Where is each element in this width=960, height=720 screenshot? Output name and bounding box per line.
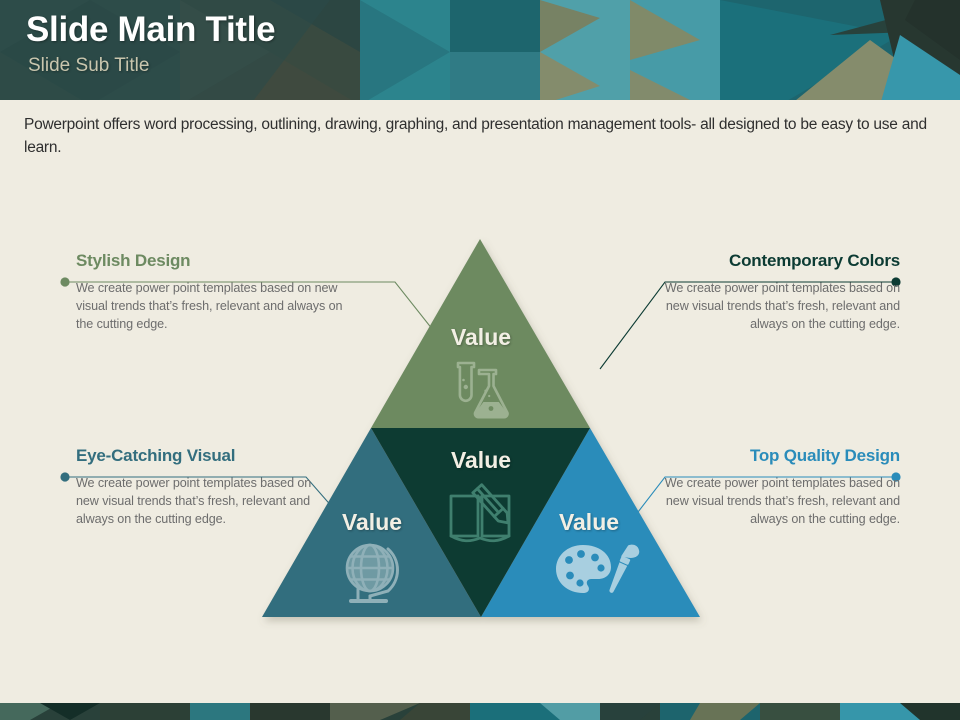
callout-bottom-left-title: Eye-Catching Visual — [62, 446, 312, 466]
intro-paragraph: Powerpoint offers word processing, outli… — [24, 113, 939, 160]
callout-top-left[interactable]: Stylish Design We create power point tem… — [62, 251, 362, 334]
slide-footer — [0, 703, 960, 720]
pyramid-diagram: Value Value Value Value — [0, 170, 960, 680]
callout-bottom-left-body: We create power point templates based on… — [62, 466, 312, 529]
segment-center-label: Value — [451, 447, 511, 473]
callout-bottom-right-title: Top Quality Design — [662, 446, 914, 466]
callout-top-left-title: Stylish Design — [62, 251, 362, 271]
callout-bottom-right-body: We create power point templates based on… — [662, 466, 914, 529]
callout-top-right-body: We create power point templates based on… — [662, 271, 914, 334]
segment-bottom-right-label: Value — [559, 509, 619, 535]
footer-triangle-pattern — [0, 703, 960, 720]
callout-top-right-title: Contemporary Colors — [662, 251, 914, 271]
slide-header: Slide Main Title Slide Sub Title — [0, 0, 960, 105]
slide-main-title: Slide Main Title — [26, 10, 275, 50]
segment-top-label: Value — [451, 324, 511, 350]
slide-sub-title: Slide Sub Title — [28, 56, 275, 77]
pyramid-svg: Value Value Value Value — [0, 170, 960, 680]
callout-top-left-body: We create power point templates based on… — [62, 271, 362, 334]
callout-bottom-left[interactable]: Eye-Catching Visual We create power poin… — [62, 446, 312, 529]
header-text-block: Slide Main Title Slide Sub Title — [26, 10, 275, 77]
segment-bottom-left-label: Value — [342, 509, 402, 535]
slide-canvas: Slide Main Title Slide Sub Title Powerpo… — [0, 0, 960, 720]
callout-top-right[interactable]: Contemporary Colors We create power poin… — [662, 251, 914, 334]
callout-bottom-right[interactable]: Top Quality Design We create power point… — [662, 446, 914, 529]
